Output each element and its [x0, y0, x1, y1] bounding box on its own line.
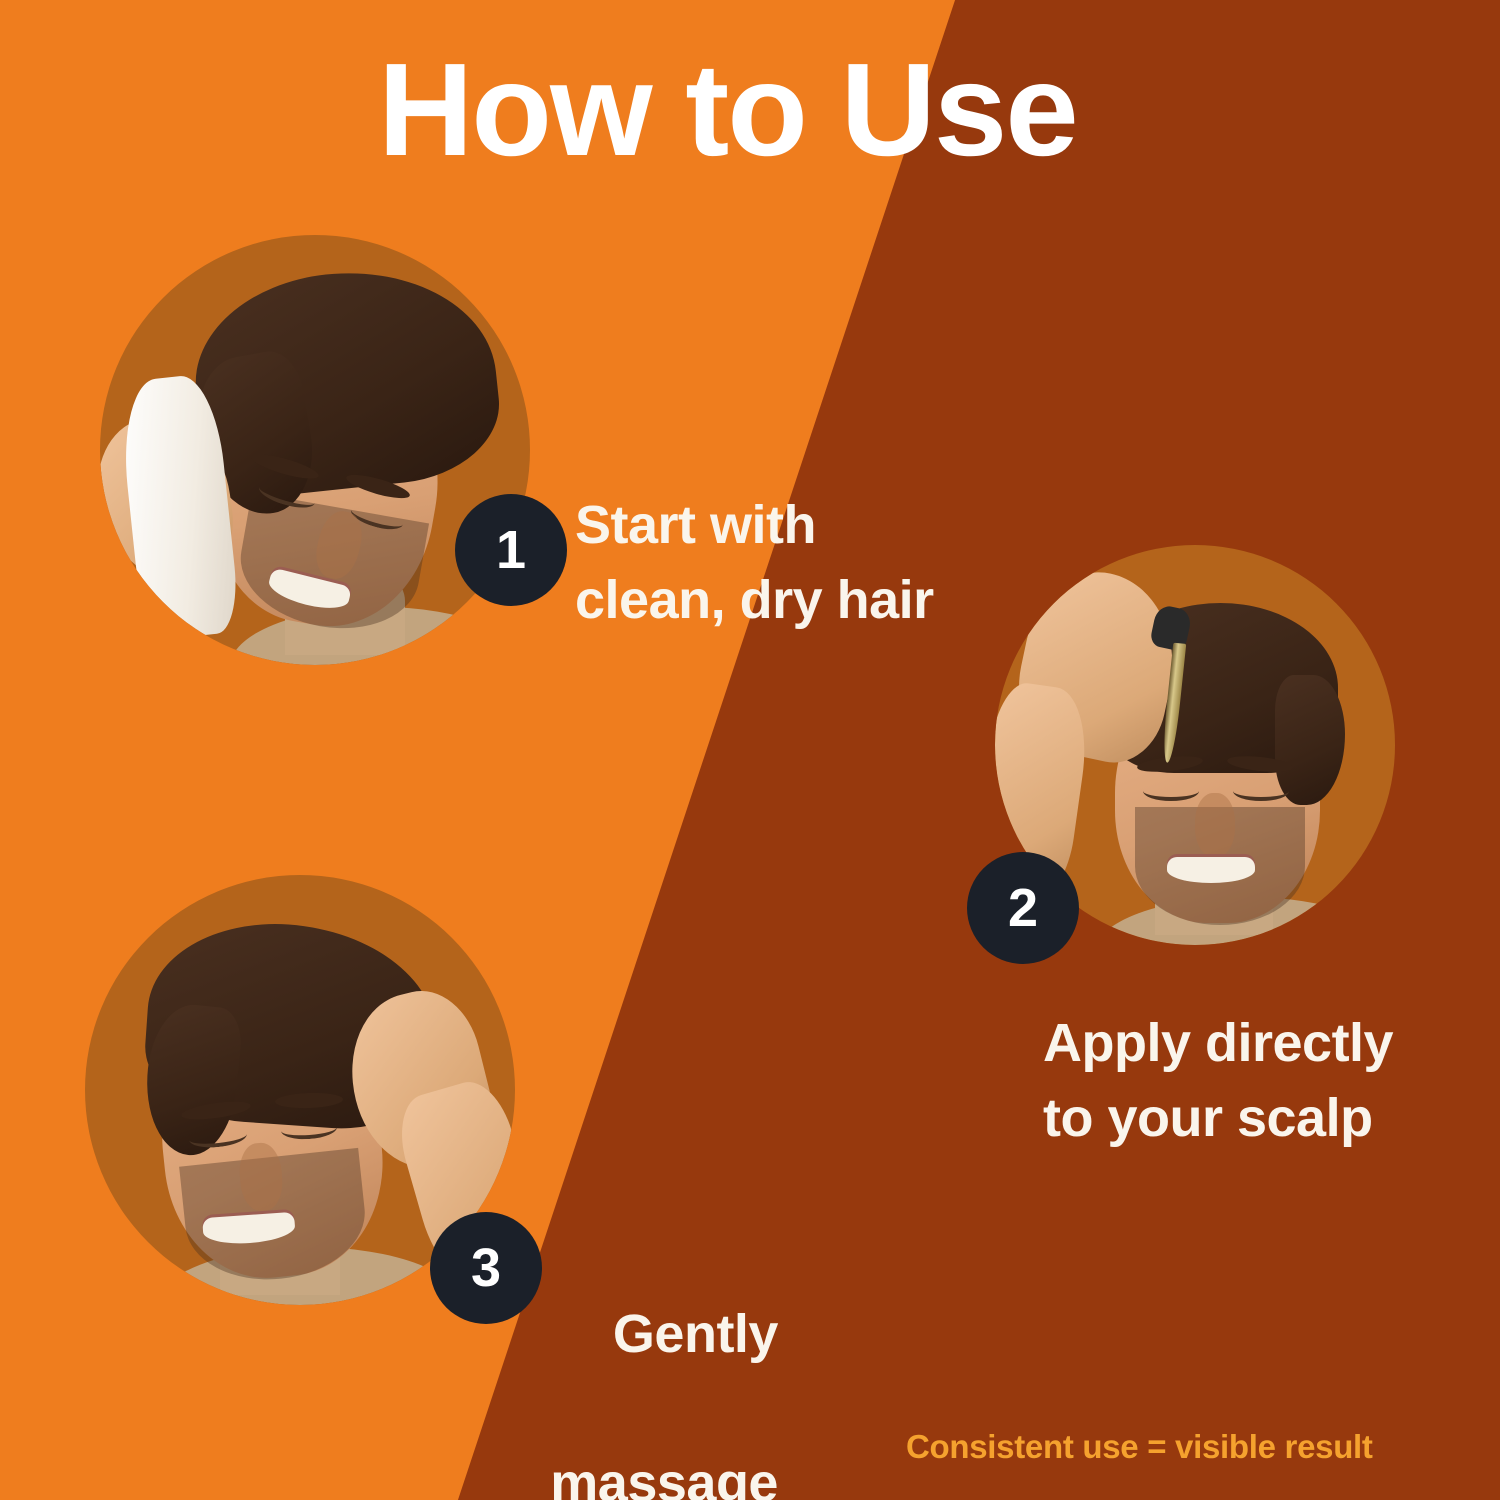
mouth: [1167, 857, 1255, 883]
nose: [1195, 793, 1235, 857]
eye-right: [1233, 781, 1289, 801]
step-1-caption: Start with clean, dry hair: [575, 488, 934, 637]
man-drying-hair-illustration: [100, 235, 530, 665]
step-1-number: 1: [496, 523, 526, 577]
step-3-caption-line-1: Gently: [553, 1297, 778, 1372]
step-2-number-badge: 2: [967, 852, 1079, 964]
step-2-caption: Apply directly to your scalp: [1043, 1006, 1393, 1155]
step-2-number: 2: [1008, 881, 1038, 935]
step-1-number-badge: 1: [455, 494, 567, 606]
step-3-number-badge: 3: [430, 1212, 542, 1324]
eye-left: [1143, 781, 1199, 801]
how-to-use-infographic: How to Use: [0, 0, 1500, 1500]
step-3-caption-line-2: massage: [513, 1446, 778, 1500]
step-3-number: 3: [471, 1241, 501, 1295]
page-title: How to Use: [378, 44, 1178, 176]
step-3-caption: Gently massage the solution: [553, 1222, 778, 1500]
step-1-photo: [100, 235, 530, 665]
step-1-photo-image: [100, 235, 530, 665]
tagline: Consistent use = visible result: [906, 1428, 1373, 1466]
